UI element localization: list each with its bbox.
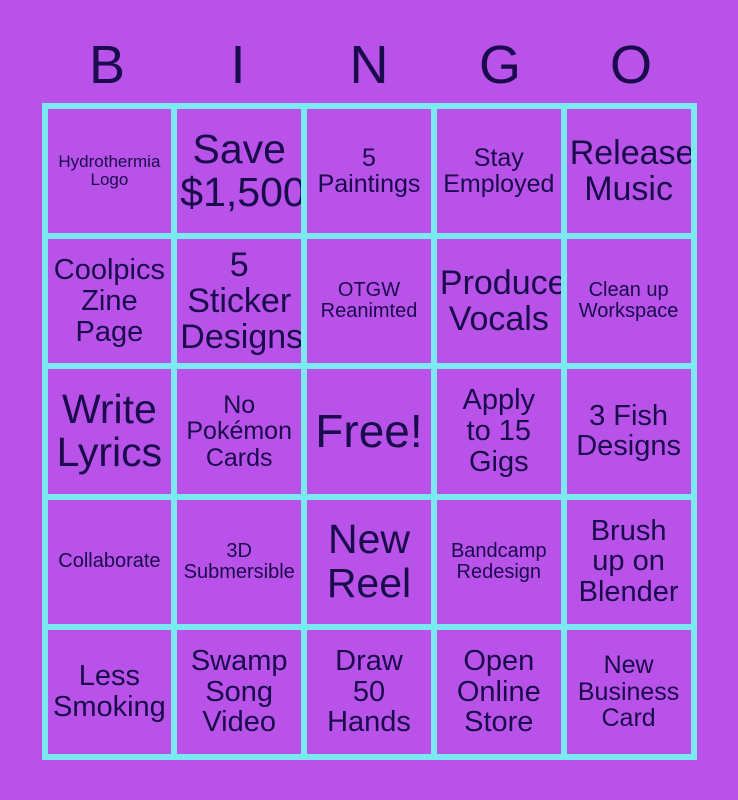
bingo-cell-label: Brush up on Blender [570, 516, 688, 608]
bingo-cell[interactable]: Clean up Workspace [567, 239, 691, 363]
bingo-cell[interactable]: 3D Submersible [177, 500, 301, 624]
bingo-cell-label: Hydrothermia Logo [51, 153, 169, 189]
bingo-grid-container: Hydrothermia LogoSave $1,5005 PaintingsS… [42, 103, 697, 760]
bingo-cell[interactable]: Release Music [567, 109, 691, 233]
bingo-cell-label: 5 Paintings [310, 145, 428, 198]
bingo-cell[interactable]: Brush up on Blender [567, 500, 691, 624]
bingo-cell[interactable]: 3 Fish Designs [567, 369, 691, 493]
bingo-cell-label: 5 Sticker Designs [180, 247, 298, 355]
bingo-cell-label: Stay Employed [440, 145, 558, 198]
bingo-cell-label: Bandcamp Redesign [440, 541, 558, 583]
bingo-cell[interactable]: Draw 50 Hands [307, 630, 431, 754]
bingo-header: B I N G O [42, 0, 697, 94]
bingo-cell[interactable]: Stay Employed [437, 109, 561, 233]
bingo-cell-label: Apply to 15 Gigs [440, 385, 558, 477]
bingo-cell-label: No Pokémon Cards [180, 392, 298, 472]
bingo-cell[interactable]: Open Online Store [437, 630, 561, 754]
bingo-cell[interactable]: Apply to 15 Gigs [437, 369, 561, 493]
bingo-cell-label: Save $1,500 [180, 128, 298, 215]
bingo-cell[interactable]: Coolpics Zine Page [48, 239, 172, 363]
header-letter-i: I [173, 36, 304, 94]
bingo-cell-label: Produce Vocals [440, 265, 558, 337]
bingo-cell[interactable]: Hydrothermia Logo [48, 109, 172, 233]
bingo-cell-label: Swamp Song Video [180, 646, 298, 738]
bingo-cell[interactable]: 5 Sticker Designs [177, 239, 301, 363]
bingo-cell[interactable]: New Reel [307, 500, 431, 624]
bingo-cell[interactable]: No Pokémon Cards [177, 369, 301, 493]
bingo-cell[interactable]: Write Lyrics [48, 369, 172, 493]
bingo-cell-label: Coolpics Zine Page [51, 255, 169, 347]
bingo-cell[interactable]: 5 Paintings [307, 109, 431, 233]
bingo-cell[interactable]: Produce Vocals [437, 239, 561, 363]
bingo-cell-label: 3D Submersible [180, 541, 298, 583]
bingo-cell-label: Free! [310, 407, 428, 456]
bingo-cell-label: 3 Fish Designs [570, 401, 688, 462]
bingo-cell-label: Clean up Workspace [570, 280, 688, 322]
bingo-cell[interactable]: New Business Card [567, 630, 691, 754]
bingo-cell[interactable]: Bandcamp Redesign [437, 500, 561, 624]
bingo-card: B I N G O Hydrothermia LogoSave $1,5005 … [0, 0, 738, 800]
header-letter-n: N [304, 36, 435, 94]
bingo-cell-label: Release Music [570, 135, 688, 207]
bingo-cell-label: Collaborate [51, 551, 169, 572]
header-letter-o: O [566, 36, 697, 94]
bingo-grid: Hydrothermia LogoSave $1,5005 PaintingsS… [48, 109, 691, 754]
bingo-cell-label: New Business Card [570, 652, 688, 732]
bingo-cell-label: OTGW Reanimted [310, 280, 428, 322]
bingo-cell[interactable]: Less Smoking [48, 630, 172, 754]
bingo-cell[interactable]: Save $1,500 [177, 109, 301, 233]
bingo-cell-label: Less Smoking [51, 661, 169, 722]
bingo-cell[interactable]: Collaborate [48, 500, 172, 624]
bingo-cell[interactable]: Swamp Song Video [177, 630, 301, 754]
bingo-cell-label: Write Lyrics [51, 388, 169, 475]
header-letter-g: G [435, 36, 566, 94]
bingo-cell-label: Draw 50 Hands [310, 646, 428, 738]
bingo-cell-label: Open Online Store [440, 646, 558, 738]
header-letter-b: B [42, 36, 173, 94]
bingo-cell[interactable]: OTGW Reanimted [307, 239, 431, 363]
bingo-cell-free[interactable]: Free! [307, 369, 431, 493]
bingo-cell-label: New Reel [310, 518, 428, 605]
